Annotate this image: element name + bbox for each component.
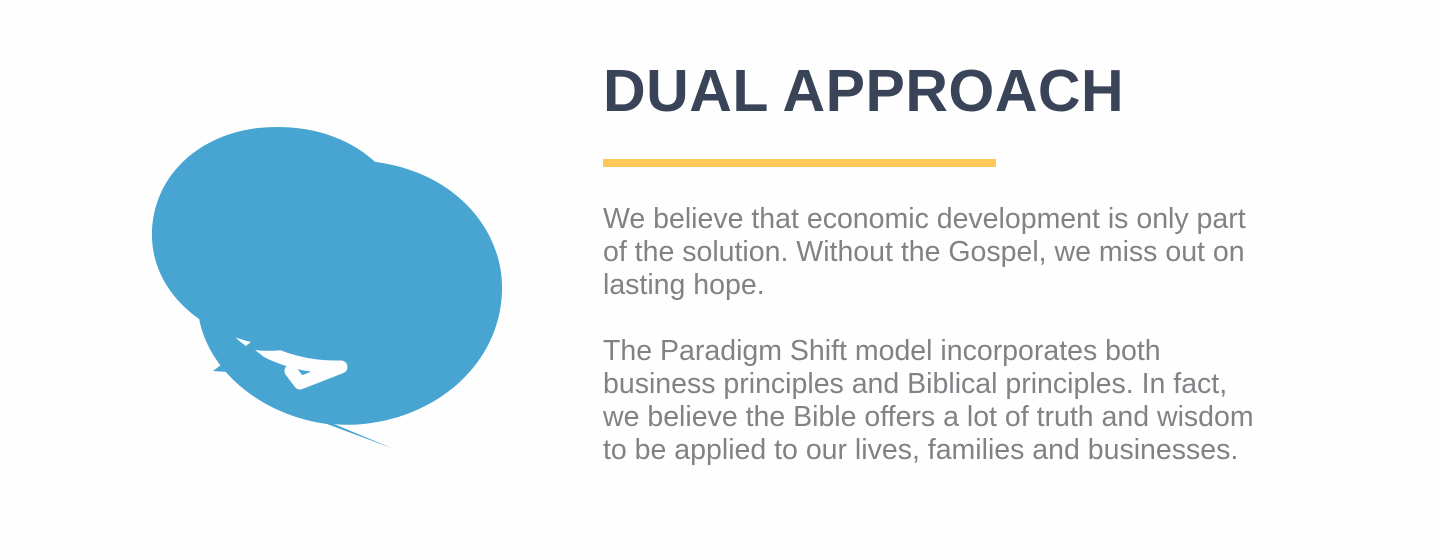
body-line: lasting hope.: [603, 269, 1363, 302]
body-paragraph-2: The Paradigm Shift model incorporates bo…: [603, 335, 1363, 467]
dual-approach-slide: DUAL APPROACH We believe that economic d…: [0, 0, 1440, 560]
body-line: The Paradigm Shift model incorporates bo…: [603, 335, 1363, 368]
body-line: of the solution. Without the Gospel, we …: [603, 236, 1363, 269]
body-line: we believe the Bible offers a lot of tru…: [603, 401, 1363, 434]
body-line: We believe that economic development is …: [603, 203, 1363, 236]
body-text-block: We believe that economic development is …: [603, 203, 1363, 467]
dual-speech-bubbles-icon: [95, 118, 515, 448]
icon-column: [0, 0, 575, 560]
page-title: DUAL APPROACH: [603, 62, 1124, 121]
body-line: to be applied to our lives, families and…: [603, 434, 1363, 467]
body-line: business principles and Biblical princip…: [603, 368, 1363, 401]
title-underline-rule: [603, 159, 996, 167]
text-column: DUAL APPROACH We believe that economic d…: [603, 0, 1363, 560]
body-paragraph-1: We believe that economic development is …: [603, 203, 1363, 302]
